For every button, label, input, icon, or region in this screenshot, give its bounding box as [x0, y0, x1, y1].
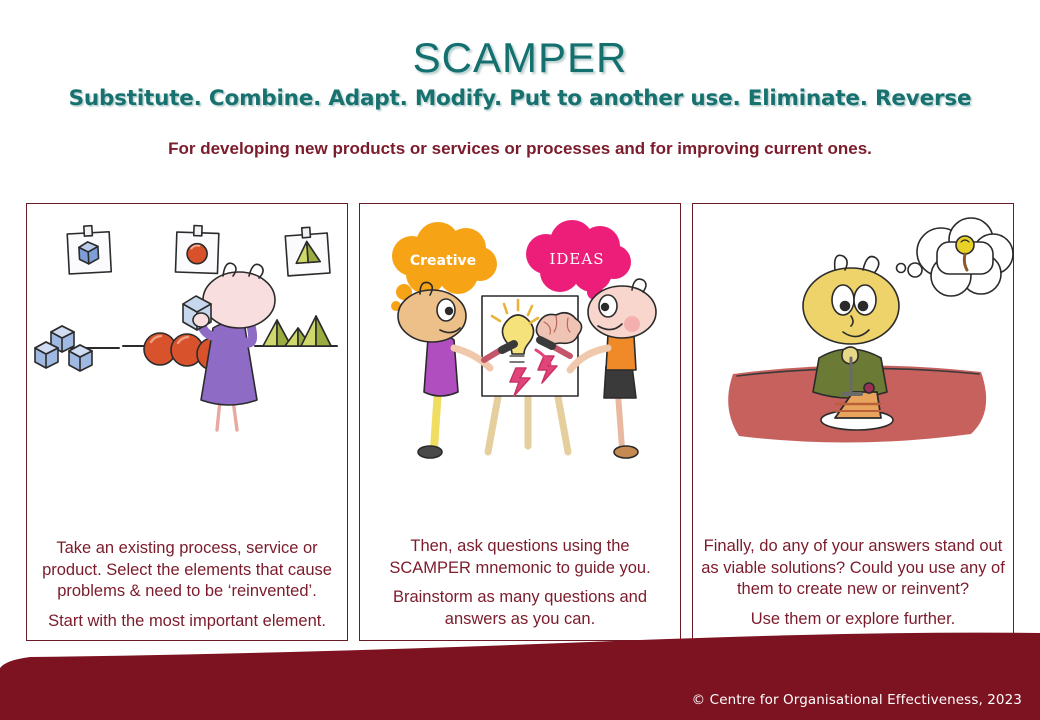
panel-group: Take an existing process, service or pro…: [26, 203, 1014, 641]
panel-1: Take an existing process, service or pro…: [26, 203, 348, 641]
person-sorting-shapes-illustration: [27, 208, 347, 466]
lightbulb-thought-bubble: [897, 218, 1014, 296]
slide-canvas: SCAMPER Substitute. Combine. Adapt. Modi…: [0, 0, 1040, 720]
person-with-cake-idea-illustration: [693, 208, 1013, 466]
panel-2: Creative IDEAS: [359, 203, 681, 641]
two-people-brainstorming-illustration: Creative IDEAS: [360, 208, 680, 466]
page-subtitle: Substitute. Combine. Adapt. Modify. Put …: [0, 86, 1040, 111]
panel-3-caption-line-2: Use them or explore further.: [701, 609, 1005, 630]
panel-2-caption-line-1: Then, ask questions using the SCAMPER mn…: [368, 536, 672, 579]
creative-bubble-label: Creative: [410, 253, 476, 269]
page-title: SCAMPER: [0, 34, 1040, 82]
panel-1-caption-line-2: Start with the most important element.: [35, 611, 339, 632]
copyright-text: © Centre for Organisational Effectivenes…: [692, 692, 1022, 708]
panel-3-caption-line-1: Finally, do any of your answers stand ou…: [701, 536, 1005, 600]
lead-text: For developing new products or services …: [0, 139, 1040, 159]
panel-1-caption-line-1: Take an existing process, service or pro…: [35, 538, 339, 602]
panel-2-caption-line-2: Brainstorm as many questions and answers…: [368, 587, 672, 630]
panel-1-caption: Take an existing process, service or pro…: [35, 538, 339, 632]
footer-band: © Centre for Organisational Effectivenes…: [0, 630, 1040, 720]
panel-2-caption: Then, ask questions using the SCAMPER mn…: [368, 536, 672, 630]
ideas-bubble-label: IDEAS: [549, 250, 604, 268]
panel-3: Finally, do any of your answers stand ou…: [692, 203, 1014, 641]
panel-3-caption: Finally, do any of your answers stand ou…: [701, 536, 1005, 630]
